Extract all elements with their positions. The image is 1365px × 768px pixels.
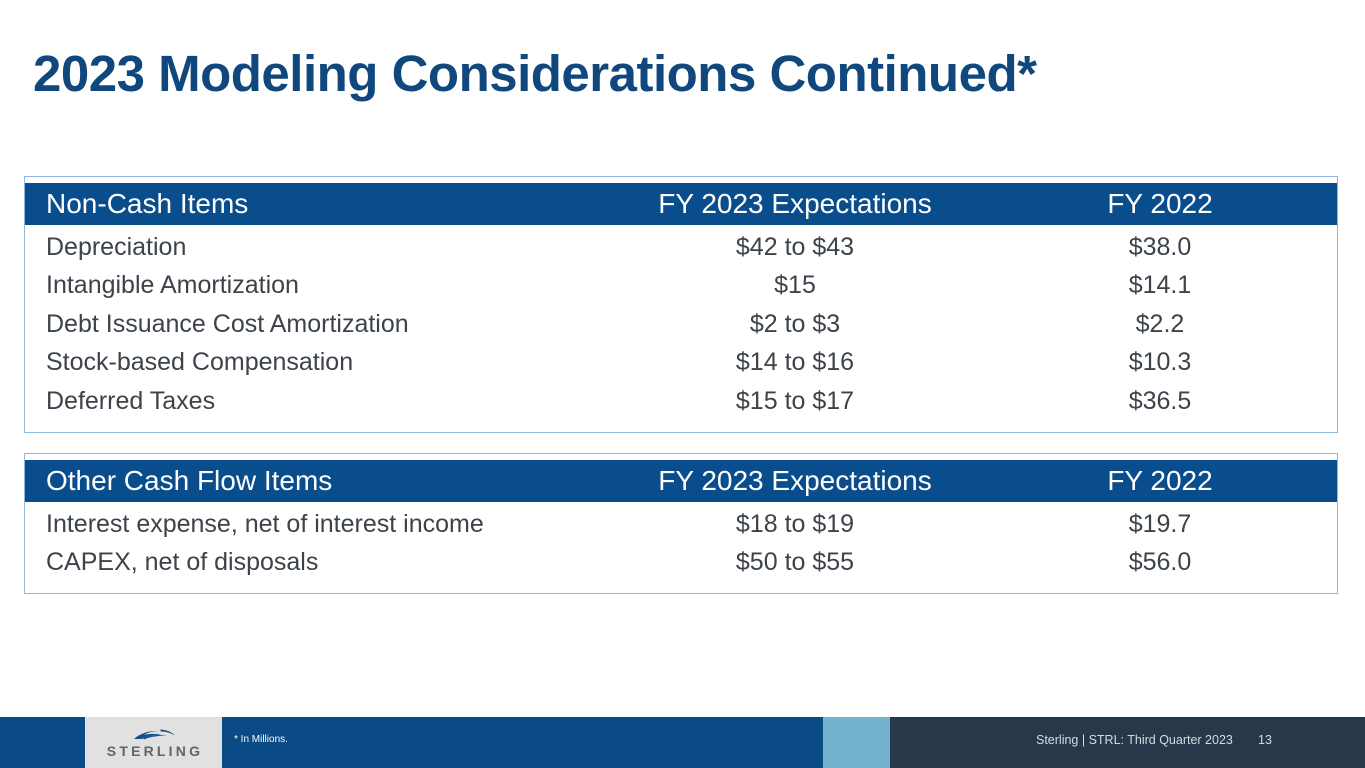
table-row: Debt Issuance Cost Amortization $2 to $3… [25, 305, 1337, 344]
sterling-wordmark: STERLING [104, 744, 203, 758]
column-header-fy2023: FY 2023 Expectations [585, 188, 1005, 220]
column-header-category: Non-Cash Items [25, 188, 585, 220]
sterling-swoosh-icon [131, 728, 177, 743]
table-other-cash-flow-items: Other Cash Flow Items FY 2023 Expectatio… [24, 453, 1338, 594]
page-title: 2023 Modeling Considerations Continued* [33, 44, 1036, 103]
table-row: Depreciation $42 to $43 $38.0 [25, 228, 1337, 267]
row-label: Intangible Amortization [25, 271, 585, 300]
row-label: Stock-based Compensation [25, 348, 585, 377]
slide-footer: STERLING * In Millions. Sterling | STRL:… [0, 717, 1365, 768]
row-label: Depreciation [25, 233, 585, 262]
row-label: CAPEX, net of disposals [25, 548, 585, 577]
row-label: Deferred Taxes [25, 387, 585, 416]
table-row: Intangible Amortization $15 $14.1 [25, 267, 1337, 306]
row-fy2022: $38.0 [1005, 233, 1315, 262]
row-fy2023: $42 to $43 [585, 233, 1005, 262]
row-fy2022: $56.0 [1005, 548, 1315, 577]
table-non-cash-items: Non-Cash Items FY 2023 Expectations FY 2… [24, 176, 1338, 433]
table-row: Stock-based Compensation $14 to $16 $10.… [25, 344, 1337, 383]
table-header-row: Non-Cash Items FY 2023 Expectations FY 2… [25, 183, 1337, 225]
row-fy2023: $15 to $17 [585, 387, 1005, 416]
footnote-in-millions: * In Millions. [234, 734, 288, 745]
column-header-fy2023: FY 2023 Expectations [585, 465, 1005, 497]
row-fy2023: $15 [585, 271, 1005, 300]
row-fy2023: $18 to $19 [585, 510, 1005, 539]
footer-band-light-blue [823, 717, 890, 768]
row-fy2023: $14 to $16 [585, 348, 1005, 377]
row-fy2023: $50 to $55 [585, 548, 1005, 577]
row-fy2023: $2 to $3 [585, 310, 1005, 339]
row-label: Interest expense, net of interest income [25, 510, 585, 539]
row-fy2022: $2.2 [1005, 310, 1315, 339]
column-header-category: Other Cash Flow Items [25, 465, 585, 497]
row-fy2022: $36.5 [1005, 387, 1315, 416]
table-row: CAPEX, net of disposals $50 to $55 $56.0 [25, 544, 1337, 583]
column-header-fy2022: FY 2022 [1005, 188, 1315, 220]
column-header-fy2022: FY 2022 [1005, 465, 1315, 497]
footer-company-info: Sterling | STRL: Third Quarter 2023 [1036, 733, 1233, 747]
row-fy2022: $10.3 [1005, 348, 1315, 377]
sterling-logo: STERLING [85, 717, 222, 768]
row-fy2022: $19.7 [1005, 510, 1315, 539]
table-row: Interest expense, net of interest income… [25, 505, 1337, 544]
page-number: 13 [1258, 733, 1272, 747]
table-row: Deferred Taxes $15 to $17 $36.5 [25, 382, 1337, 421]
table-header-row: Other Cash Flow Items FY 2023 Expectatio… [25, 460, 1337, 502]
row-fy2022: $14.1 [1005, 271, 1315, 300]
row-label: Debt Issuance Cost Amortization [25, 310, 585, 339]
